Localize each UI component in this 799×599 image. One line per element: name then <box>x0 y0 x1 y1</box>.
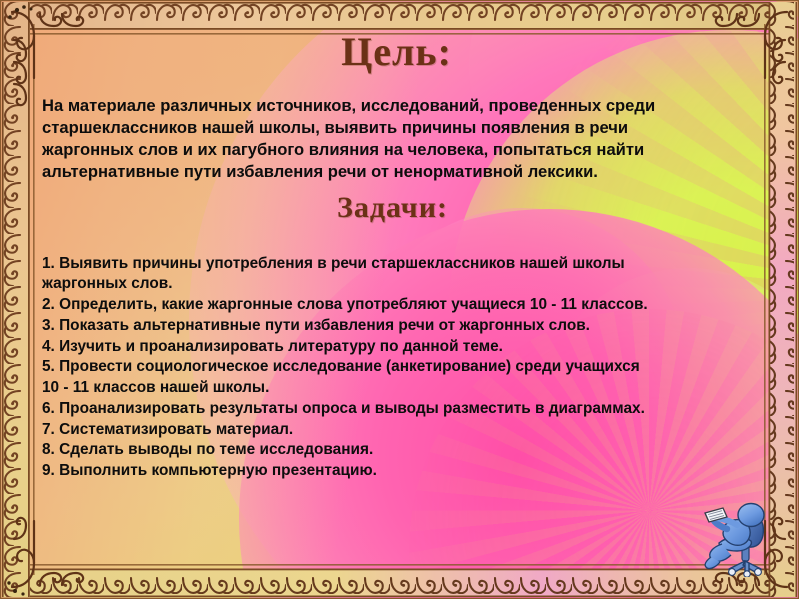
person-reading-figure <box>689 491 785 577</box>
task-item: 3. Показать альтернативные пути избавлен… <box>42 316 652 337</box>
task-item: 1. Выявить причины употребления в речи с… <box>42 254 652 295</box>
tasks-list: 1. Выявить причины употребления в речи с… <box>42 254 652 482</box>
task-item: 4. Изучить и проанализировать литературу… <box>42 337 652 358</box>
tasks-top-spacer <box>34 224 769 244</box>
goal-paragraph: На материале различных источников, иссле… <box>42 95 682 183</box>
goal-heading: Цель: <box>34 31 769 73</box>
task-item: 7. Систематизировать материал. <box>42 420 652 441</box>
presentation-slide: Цель: На материале различных источников,… <box>0 0 799 599</box>
tasks-heading: Задачи: <box>34 192 769 224</box>
task-item: 2. Определить, какие жаргонные слова упо… <box>42 295 652 316</box>
task-item: 8. Сделать выводы по теме исследования. <box>42 440 652 461</box>
slide-content: Цель: На материале различных источников,… <box>34 24 769 571</box>
task-item: 9. Выполнить компьютерную презентацию. <box>42 461 652 482</box>
figure-head <box>738 504 764 527</box>
task-item: 5. Провести социологическое исследование… <box>42 357 652 398</box>
reader-figure-svg <box>689 491 785 577</box>
task-item: 6. Проанализировать результаты опроса и … <box>42 399 652 420</box>
